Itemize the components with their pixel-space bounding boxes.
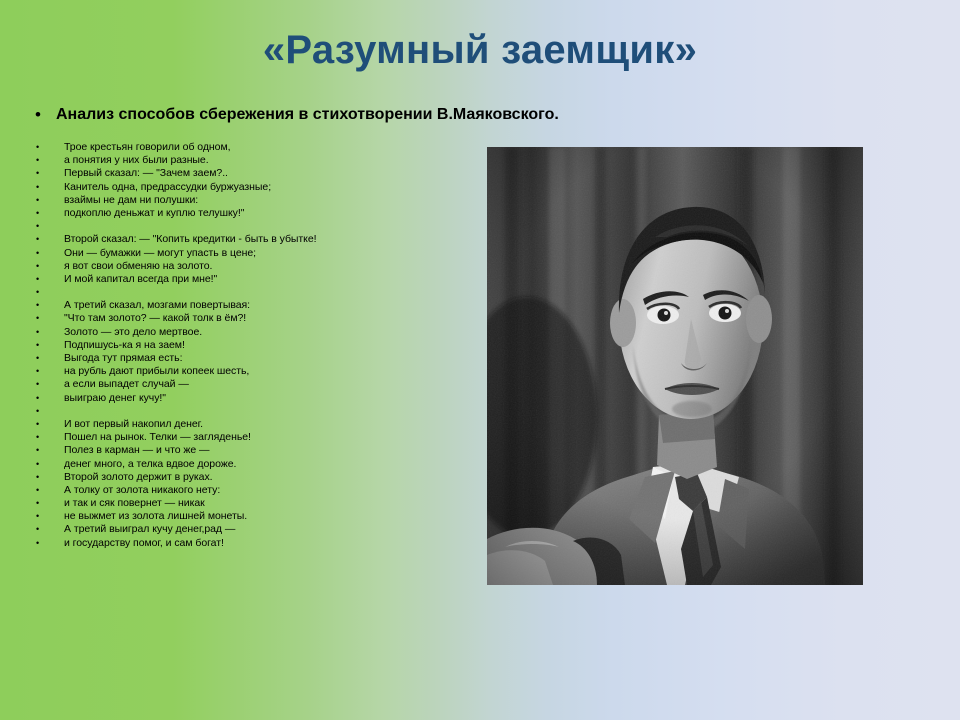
bullet-icon: •	[30, 286, 64, 299]
bullet-icon: •	[30, 471, 64, 484]
bullet-icon: •	[30, 523, 64, 536]
poem-line-text: не выжмет из золота лишней монеты.	[64, 510, 247, 523]
poem-line: •А третий сказал, мозгами повертывая:	[30, 299, 450, 312]
poem-line-text: Полез в карман — и что же —	[64, 444, 209, 457]
page-title: «Разумный заемщик»	[0, 28, 960, 73]
poem-line-text: А третий выиграл кучу денег,рад —	[64, 523, 235, 536]
poem-line-text: выиграю денег кучу!"	[64, 392, 166, 405]
poem-line: •Трое крестьян говорили об одном,	[30, 141, 450, 154]
poem-line: •денег много, а телка вдвое дороже.	[30, 458, 450, 471]
poem-line-text: а если выпадет случай —	[64, 378, 189, 391]
bullet-icon: •	[30, 154, 64, 167]
bullet-icon: •	[30, 339, 64, 352]
bullet-icon: •	[30, 418, 64, 431]
bullet-icon: •	[30, 207, 64, 220]
bullet-icon: •	[30, 405, 64, 418]
bullet-icon: •	[30, 141, 64, 154]
bullet-icon: •	[30, 194, 64, 207]
poem-line-text: И мой капитал всегда при мне!"	[64, 273, 217, 286]
poem-line: •А третий выиграл кучу денег,рад —	[30, 523, 450, 536]
poem-line-text: Подпишусь-ка я на заем!	[64, 339, 185, 352]
bullet-icon: •	[30, 247, 64, 260]
bullet-icon: •	[30, 497, 64, 510]
bullet-icon: •	[30, 273, 64, 286]
poem-line: •на рубль дают прибыли копеек шесть,	[30, 365, 450, 378]
poem-line: •Они — бумажки — могут упасть в цене;	[30, 247, 450, 260]
poem-line: •	[30, 405, 450, 418]
bullet-icon: •	[30, 458, 64, 471]
bullet-icon: •	[30, 431, 64, 444]
bullet-icon: •	[30, 299, 64, 312]
bullet-icon: •	[30, 484, 64, 497]
poem-line: •подкоплю деньжат и куплю телушку!"	[30, 207, 450, 220]
poem-line: •Второй сказал: — "Копить кредитки - быт…	[30, 233, 450, 246]
poem-line: •Второй золото держит в руках.	[30, 471, 450, 484]
poem-line-text: а понятия у них были разные.	[64, 154, 209, 167]
poem-line: •Полез в карман — и что же —	[30, 444, 450, 457]
poem-line: •Подпишусь-ка я на заем!	[30, 339, 450, 352]
bullet-icon: •	[30, 167, 64, 180]
portrait-illustration	[487, 147, 863, 585]
bullet-icon: •	[30, 220, 64, 233]
poem-line: •Первый сказал: — "Зачем заем?..	[30, 167, 450, 180]
slide: «Разумный заемщик» • Анализ способов сбе…	[0, 0, 960, 720]
bullet-icon: •	[30, 510, 64, 523]
bullet-icon: •	[30, 392, 64, 405]
poem-line-text: Трое крестьян говорили об одном,	[64, 141, 231, 154]
poem-line-text: А третий сказал, мозгами повертывая:	[64, 299, 250, 312]
poem-text-block: •Трое крестьян говорили об одном,•а поня…	[30, 141, 450, 550]
bullet-icon: •	[30, 233, 64, 246]
poem-line-text: и так и сяк повернет — никак	[64, 497, 205, 510]
poem-line: •не выжмет из золота лишней монеты.	[30, 510, 450, 523]
poem-line-text: А толку от золота никакого нету:	[64, 484, 220, 497]
poem-line: •А толку от золота никакого нету:	[30, 484, 450, 497]
poem-line-text: Выгода тут прямая есть:	[64, 352, 182, 365]
bullet-icon: •	[30, 181, 64, 194]
poem-line-text: взаймы не дам ни полушки:	[64, 194, 198, 207]
poem-line: •	[30, 286, 450, 299]
poem-line-text: Первый сказал: — "Зачем заем?..	[64, 167, 228, 180]
poem-line: •Канитель одна, предрассудки буржуазные;	[30, 181, 450, 194]
poem-line-text: Пошел на рынок. Телки — загляденье!	[64, 431, 251, 444]
poem-line-text: Они — бумажки — могут упасть в цене;	[64, 247, 256, 260]
bullet-icon: •	[30, 444, 64, 457]
poem-line-text: Золото — это дело мертвое.	[64, 326, 202, 339]
poem-line: •И мой капитал всегда при мне!"	[30, 273, 450, 286]
poem-line-text: Второй сказал: — "Копить кредитки - быть…	[64, 233, 317, 246]
poem-line: •и государству помог, и сам богат!	[30, 537, 450, 550]
poem-line-text: И вот первый накопил денег.	[64, 418, 203, 431]
poem-line-text: "Что там золото? — какой толк в ём?!	[64, 312, 246, 325]
poem-line-text: и государству помог, и сам богат!	[64, 537, 224, 550]
poem-line: •а если выпадет случай —	[30, 378, 450, 391]
poem-line: •	[30, 220, 450, 233]
poem-line-text: на рубль дают прибыли копеек шесть,	[64, 365, 249, 378]
poem-line: •а понятия у них были разные.	[30, 154, 450, 167]
bullet-icon: •	[30, 378, 64, 391]
bullet-icon: •	[30, 326, 64, 339]
poem-line: •"Что там золото? — какой толк в ём?!	[30, 312, 450, 325]
subtitle-bullet-item: • Анализ способов сбережения в стихотвор…	[30, 104, 559, 126]
poem-line: •Выгода тут прямая есть:	[30, 352, 450, 365]
poem-line-text: Второй золото держит в руках.	[64, 471, 213, 484]
bullet-icon: •	[30, 537, 64, 550]
poem-line: •я вот свои обменяю на золото.	[30, 260, 450, 273]
poem-line-text: Канитель одна, предрассудки буржуазные;	[64, 181, 271, 194]
poem-line: •Золото — это дело мертвое.	[30, 326, 450, 339]
bullet-icon: •	[30, 352, 64, 365]
subtitle-text: Анализ способов сбережения в стихотворен…	[56, 104, 559, 126]
bullet-icon: •	[30, 260, 64, 273]
poem-line: •и так и сяк повернет — никак	[30, 497, 450, 510]
bullet-icon: •	[30, 312, 64, 325]
poem-line: •Пошел на рынок. Телки — загляденье!	[30, 431, 450, 444]
poem-line-text: денег много, а телка вдвое дороже.	[64, 458, 236, 471]
poem-line: •И вот первый накопил денег.	[30, 418, 450, 431]
bullet-icon: •	[30, 104, 56, 126]
poem-line-text: подкоплю деньжат и куплю телушку!"	[64, 207, 244, 220]
poem-line-text: я вот свои обменяю на золото.	[64, 260, 212, 273]
poem-line: •взаймы не дам ни полушки:	[30, 194, 450, 207]
poem-line: •выиграю денег кучу!"	[30, 392, 450, 405]
bullet-icon: •	[30, 365, 64, 378]
mayakovsky-portrait-photo	[487, 147, 863, 585]
